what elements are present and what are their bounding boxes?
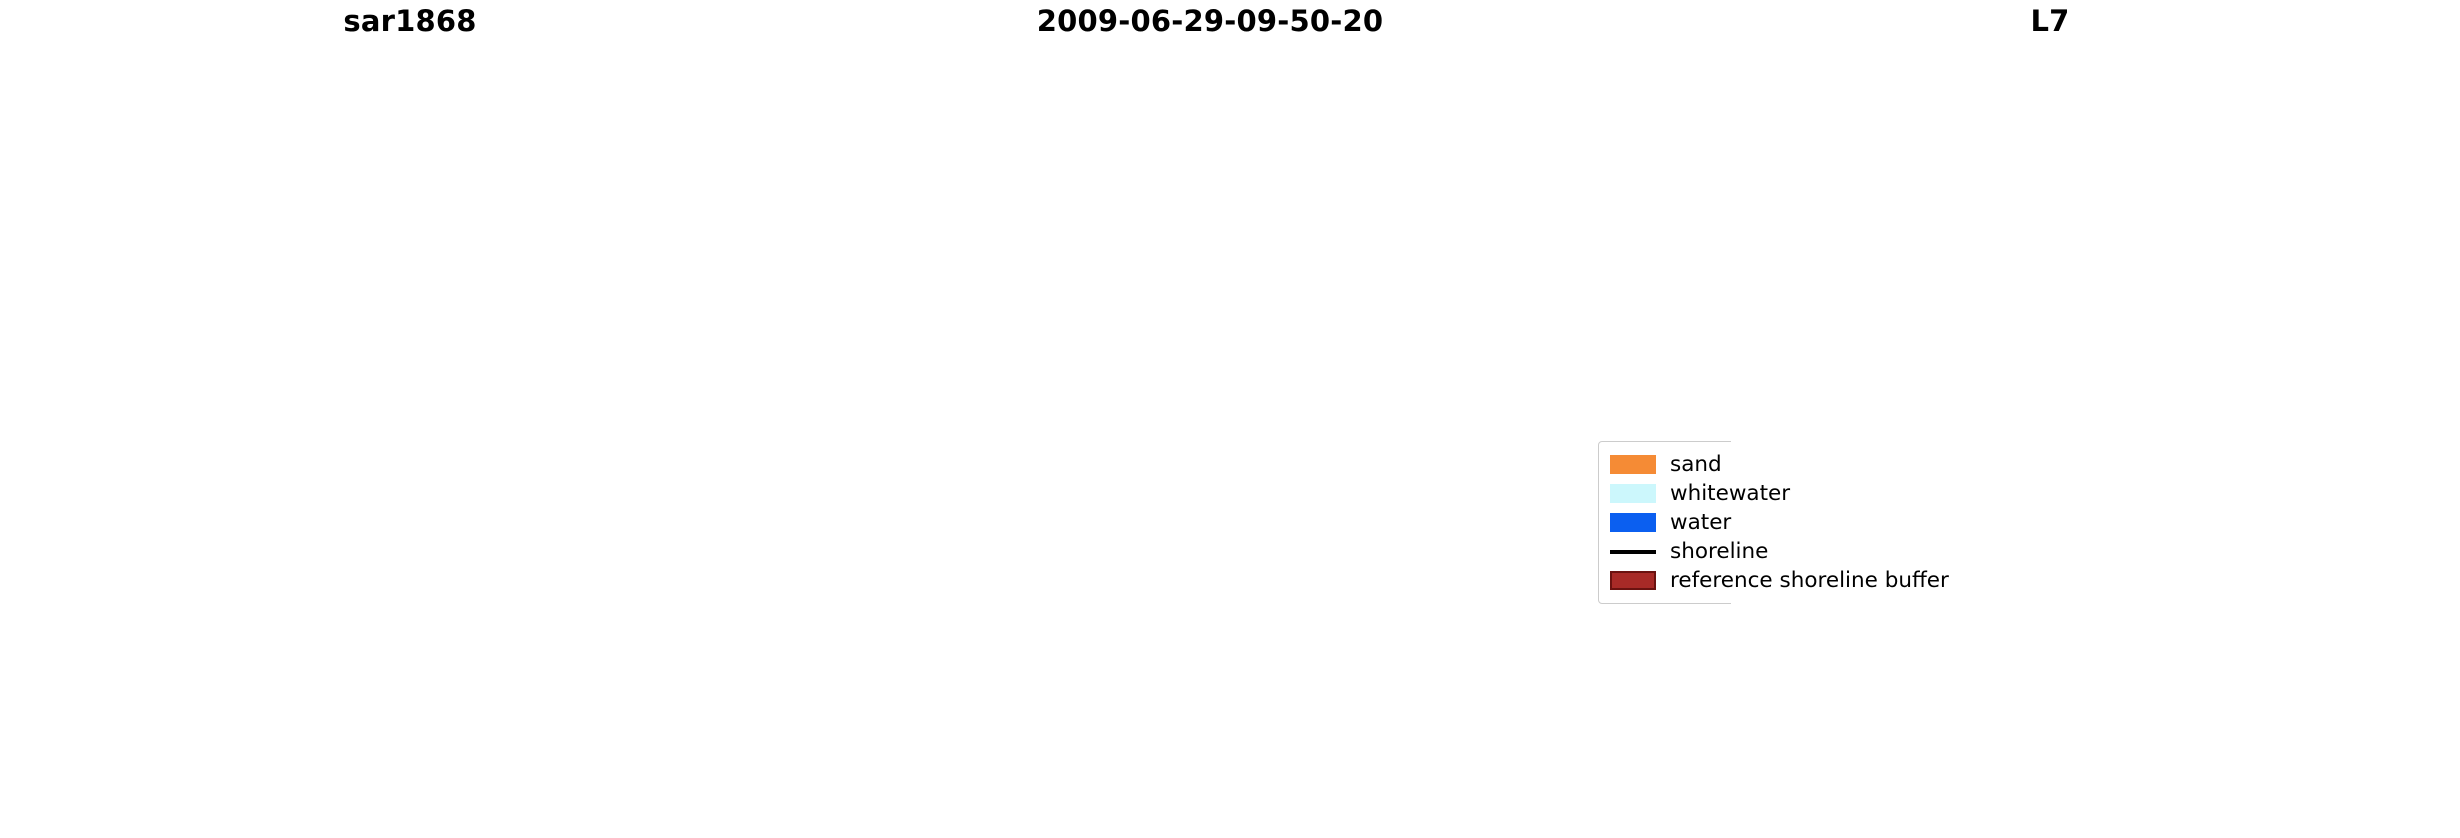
legend-swatch-shoreline-box	[1604, 550, 1662, 554]
legend-label-reference-shoreline-buffer: reference shoreline buffer	[1670, 568, 1949, 593]
legend-item-water[interactable]: water	[1598, 508, 1958, 537]
figure-canvas: sar1868 2009-06-29-09-50-20 L7 sand	[0, 0, 2460, 838]
legend-swatch-buffer-box	[1604, 571, 1662, 590]
raster-sar1868	[8, 52, 760, 682]
raster-canvas-classification	[810, 52, 1590, 838]
legend-label-sand: sand	[1670, 452, 1722, 477]
legend-swatch-water-box	[1604, 513, 1662, 532]
whitewater-swatch-icon	[1610, 484, 1656, 503]
legend-item-shoreline[interactable]: shoreline	[1598, 537, 1958, 566]
raster-canvas-sar1868	[8, 52, 760, 682]
legend: sand whitewater water shoreline referenc	[1598, 441, 1958, 606]
panel-title-1: sar1868	[0, 4, 820, 38]
panel-2009-06-29-09-50-20: 2009-06-29-09-50-20	[820, 0, 1600, 838]
legend-item-reference-shoreline-buffer[interactable]: reference shoreline buffer	[1598, 566, 1958, 595]
legend-label-whitewater: whitewater	[1670, 481, 1790, 506]
raster-classification	[810, 52, 1590, 838]
panel-l7: L7	[1640, 0, 2460, 838]
panel-sar1868: sar1868	[0, 0, 820, 838]
legend-label-water: water	[1670, 510, 1731, 535]
water-swatch-icon	[1610, 513, 1656, 532]
shoreline-line-icon	[1610, 550, 1656, 554]
legend-swatch-sand-box	[1604, 455, 1662, 474]
panel-title-3: L7	[1640, 4, 2460, 38]
panel-title-2: 2009-06-29-09-50-20	[820, 4, 1600, 38]
legend-swatch-whitewater-box	[1604, 484, 1662, 503]
legend-label-shoreline: shoreline	[1670, 539, 1768, 564]
legend-item-whitewater[interactable]: whitewater	[1598, 479, 1958, 508]
sand-swatch-icon	[1610, 455, 1656, 474]
reference-shoreline-buffer-swatch-icon	[1610, 571, 1656, 590]
legend-item-sand[interactable]: sand	[1598, 450, 1958, 479]
